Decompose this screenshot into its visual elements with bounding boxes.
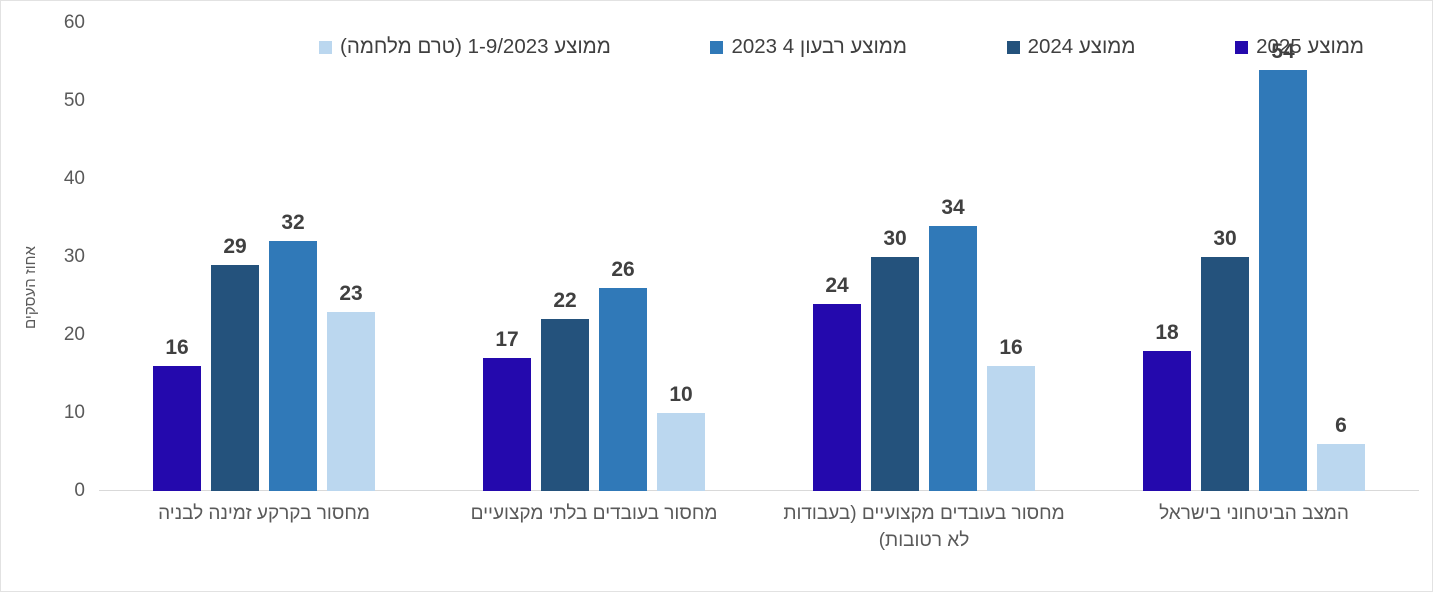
x-axis-category-line: המצב הביטחוני בישראל bbox=[1099, 501, 1409, 528]
bar-item[interactable]: 23 bbox=[327, 23, 375, 491]
bar-group-bars: 23322916 bbox=[153, 23, 375, 491]
bar-group: 16343024 bbox=[813, 23, 1035, 491]
y-axis-tick-label: 50 bbox=[64, 90, 85, 112]
x-axis-category-label: מחסור בעובדים בלתי מקצועיים bbox=[439, 501, 749, 528]
bar-item[interactable]: 18 bbox=[1143, 23, 1191, 491]
bar-item[interactable]: 16 bbox=[987, 23, 1035, 491]
bar-value-label: 30 bbox=[850, 227, 940, 251]
bar[interactable] bbox=[1317, 444, 1365, 491]
bar[interactable] bbox=[657, 413, 705, 491]
bar-value-label: 23 bbox=[306, 282, 396, 306]
bar[interactable] bbox=[483, 358, 531, 491]
bar[interactable] bbox=[1143, 351, 1191, 491]
bar[interactable] bbox=[929, 226, 977, 491]
x-axis-category-labels: המצב הביטחוני בישראלמחסור בעובדים מקצועי… bbox=[99, 501, 1419, 589]
x-axis-category-label: מחסור בעובדים מקצועיים (בעבודותלא רטובות… bbox=[759, 501, 1089, 555]
bar-value-label: 24 bbox=[792, 274, 882, 298]
bar-item[interactable]: 16 bbox=[153, 23, 201, 491]
bar[interactable] bbox=[813, 304, 861, 491]
bar-value-label: 26 bbox=[578, 258, 668, 282]
x-axis-category-line: מחסור בקרקע זמינה לבניה bbox=[109, 501, 419, 528]
x-axis-category-line: מחסור בעובדים בלתי מקצועיים bbox=[439, 501, 749, 528]
bar-item[interactable]: 10 bbox=[657, 23, 705, 491]
bar[interactable] bbox=[1259, 70, 1307, 491]
bar-value-label: 16 bbox=[132, 336, 222, 360]
x-axis-category-line: לא רטובות) bbox=[759, 528, 1089, 555]
y-axis-tick-label: 60 bbox=[64, 12, 85, 34]
bar-item[interactable]: 6 bbox=[1317, 23, 1365, 491]
bar-item[interactable]: 34 bbox=[929, 23, 977, 491]
bar-value-label: 22 bbox=[520, 289, 610, 313]
bar[interactable] bbox=[987, 366, 1035, 491]
x-axis-category-label: המצב הביטחוני בישראל bbox=[1099, 501, 1409, 528]
bar-value-label: 29 bbox=[190, 235, 280, 259]
bar-group: 6543018 bbox=[1143, 23, 1365, 491]
bar[interactable] bbox=[327, 312, 375, 491]
bar-value-label: 32 bbox=[248, 211, 338, 235]
bar[interactable] bbox=[211, 265, 259, 491]
bar-item[interactable]: 26 bbox=[599, 23, 647, 491]
y-axis-tick-label: 10 bbox=[64, 402, 85, 424]
bar[interactable] bbox=[599, 288, 647, 491]
y-axis-tick-label: 30 bbox=[64, 246, 85, 268]
bar-value-label: 16 bbox=[966, 336, 1056, 360]
bar-item[interactable]: 30 bbox=[871, 23, 919, 491]
y-axis-ticks: 0102030405060 bbox=[47, 1, 91, 592]
y-axis-title-text: אחוז העסקים bbox=[22, 246, 39, 329]
bar-item[interactable]: 17 bbox=[483, 23, 531, 491]
bar-value-label: 54 bbox=[1238, 40, 1328, 64]
bar-value-label: 30 bbox=[1180, 227, 1270, 251]
x-axis-category-line: מחסור בעובדים מקצועיים (בעבודות bbox=[759, 501, 1089, 528]
bar-item[interactable]: 30 bbox=[1201, 23, 1249, 491]
y-axis-tick-label: 40 bbox=[64, 168, 85, 190]
bar-group: 10262217 bbox=[483, 23, 705, 491]
bar-item[interactable]: 22 bbox=[541, 23, 589, 491]
bar[interactable] bbox=[269, 241, 317, 491]
bar-item[interactable]: 24 bbox=[813, 23, 861, 491]
bar-item[interactable]: 29 bbox=[211, 23, 259, 491]
bar-value-label: 6 bbox=[1296, 414, 1386, 438]
bar-value-label: 17 bbox=[462, 328, 552, 352]
bar-group-bars: 10262217 bbox=[483, 23, 705, 491]
bar-item[interactable]: 54 bbox=[1259, 23, 1307, 491]
y-axis-title: אחוז העסקים bbox=[19, 197, 41, 377]
bar-value-label: 18 bbox=[1122, 321, 1212, 345]
bar-chart: ממוצע 1-9/2023 (טרם מלחמה)ממוצע רבעון 4 … bbox=[0, 0, 1433, 592]
bar[interactable] bbox=[1201, 257, 1249, 491]
plot-area: 6543018163430241026221723322916 bbox=[99, 23, 1419, 491]
bar-group: 23322916 bbox=[153, 23, 375, 491]
bar-value-label: 10 bbox=[636, 383, 726, 407]
x-axis-category-label: מחסור בקרקע זמינה לבניה bbox=[109, 501, 419, 528]
bar-group-bars: 6543018 bbox=[1143, 23, 1365, 491]
bar-value-label: 34 bbox=[908, 196, 998, 220]
bar[interactable] bbox=[153, 366, 201, 491]
bar-group-bars: 16343024 bbox=[813, 23, 1035, 491]
y-axis-tick-label: 0 bbox=[74, 480, 85, 502]
y-axis-tick-label: 20 bbox=[64, 324, 85, 346]
